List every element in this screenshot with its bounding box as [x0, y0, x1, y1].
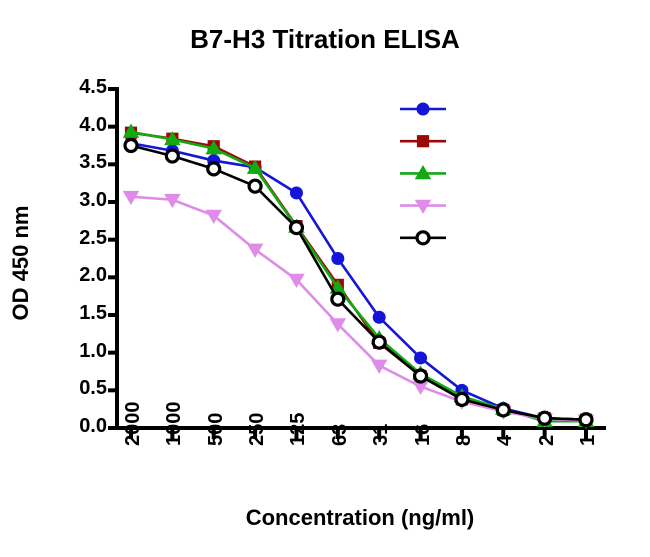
data-point	[373, 336, 385, 348]
legend-item-1[interactable]	[400, 103, 446, 115]
data-series-3	[124, 125, 594, 427]
data-point	[415, 352, 427, 364]
data-point	[372, 360, 387, 373]
legend-item-2[interactable]	[400, 136, 446, 147]
data-series-2	[125, 127, 591, 425]
data-point	[125, 140, 137, 152]
data-point	[166, 150, 178, 162]
data-point	[332, 253, 344, 265]
data-point	[248, 244, 263, 257]
data-point	[208, 163, 220, 175]
data-series-4	[124, 191, 594, 427]
legend-item-3[interactable]	[400, 166, 446, 179]
data-point	[580, 414, 592, 426]
data-point	[290, 222, 302, 234]
data-point	[456, 393, 468, 405]
data-series-group	[124, 125, 594, 428]
data-series-1	[125, 137, 592, 425]
legend-item-5[interactable]	[400, 232, 446, 244]
data-point	[415, 370, 427, 382]
data-point	[249, 180, 261, 192]
data-point	[497, 404, 509, 416]
data-series-5	[125, 140, 592, 426]
plot-area	[0, 0, 650, 557]
chart-legend	[400, 103, 446, 244]
data-point	[332, 293, 344, 305]
data-point	[539, 412, 551, 424]
legend-item-4[interactable]	[400, 200, 446, 213]
data-point	[373, 311, 385, 323]
chart-figure: B7-H3 Titration ELISA OD 450 nm Concentr…	[0, 0, 650, 557]
data-point	[290, 187, 302, 199]
